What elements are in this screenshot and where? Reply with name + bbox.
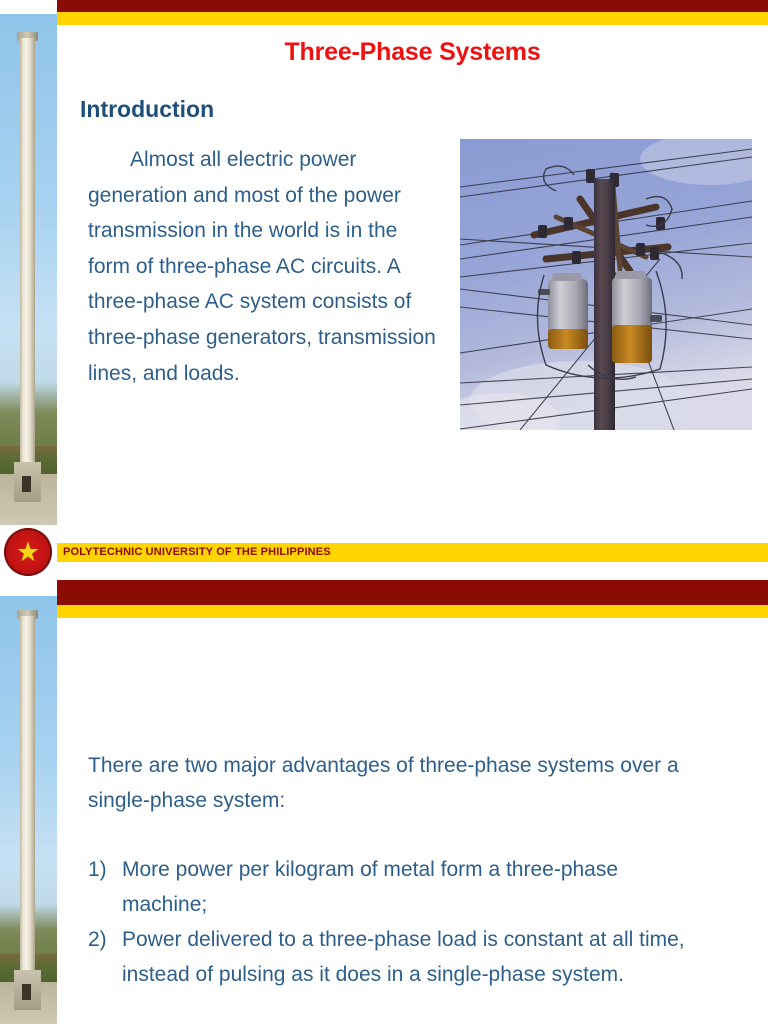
advantages-intro-text: There are two major advantages of three-… bbox=[88, 748, 688, 818]
obelisk-plaque bbox=[22, 476, 31, 492]
obelisk-shaft bbox=[20, 38, 35, 468]
footer-university-label: POLYTECHNIC UNIVERSITY OF THE PHILIPPINE… bbox=[63, 546, 331, 558]
section-heading-introduction: Introduction bbox=[80, 96, 214, 123]
slide-three-phase-advantages: ★ There are two major advantages of thre… bbox=[0, 580, 768, 1024]
star-icon: ★ bbox=[16, 539, 40, 566]
list-item-text: More power per kilogram of metal form a … bbox=[122, 858, 618, 916]
pup-seal-logo: ★ bbox=[4, 528, 52, 576]
header-bar-yellow bbox=[57, 605, 768, 618]
header-bar-yellow bbox=[57, 12, 768, 25]
list-marker: 2) bbox=[88, 922, 107, 957]
monument-photo-strip: ★ bbox=[0, 596, 57, 1024]
header-bar-red bbox=[57, 0, 768, 12]
list-item: 2) Power delivered to a three-phase load… bbox=[88, 922, 688, 992]
introduction-paragraph: Almost all electric power generation and… bbox=[88, 142, 443, 391]
utility-pole-photo bbox=[460, 139, 752, 430]
list-item-text: Power delivered to a three-phase load is… bbox=[122, 928, 685, 986]
slide-three-phase-systems-intro: ★ Three-Phase Systems Introduction Almos… bbox=[0, 0, 768, 580]
monument-photo-strip: ★ bbox=[0, 14, 57, 525]
list-item: 1) More power per kilogram of metal form… bbox=[88, 852, 688, 922]
page-title: Three-Phase Systems bbox=[57, 38, 768, 67]
list-marker: 1) bbox=[88, 852, 107, 887]
header-bar-red bbox=[57, 580, 768, 605]
obelisk-plaque bbox=[22, 984, 31, 1000]
advantages-list: 1) More power per kilogram of metal form… bbox=[88, 852, 688, 992]
obelisk-shaft bbox=[20, 616, 35, 976]
utility-pole-illustration bbox=[460, 139, 752, 430]
